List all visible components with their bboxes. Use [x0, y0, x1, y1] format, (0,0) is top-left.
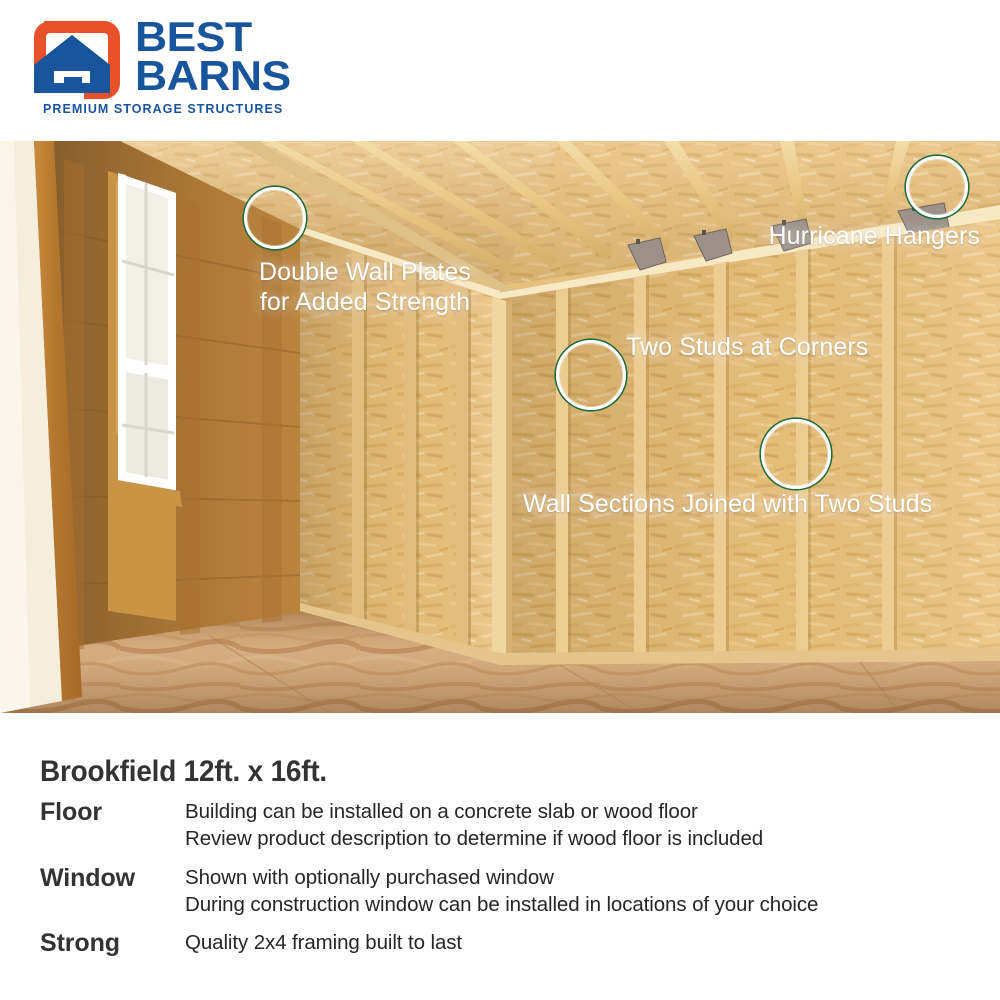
brand-tagline: PREMIUM STORAGE STRUCTURES — [43, 102, 283, 116]
annotation-label-two-studs-at-corners: Two Studs at Corners — [626, 333, 966, 363]
page-header: BEST BARNS PREMIUM STORAGE STRUCTURES — [0, 0, 1000, 141]
brand-line-1: BEST — [135, 17, 292, 56]
annotation-label-wall-sections-joined: Wall Sections Joined with Two Studs — [523, 490, 943, 520]
brand-wordmark: BEST BARNS PREMIUM STORAGE STRUCTURES — [135, 17, 283, 116]
spec-list: Floor Building can be installed on a con… — [40, 796, 990, 968]
annotation-label-double-wall-plates: Double Wall Plates for Added Strength — [250, 258, 480, 317]
spec-line: Review product description to determine … — [185, 825, 990, 852]
spec-values-floor: Building can be installed on a concrete … — [185, 796, 990, 853]
spec-line: Quality 2x4 framing built to last — [185, 929, 990, 956]
spec-label-strong: Strong — [40, 927, 185, 959]
shed-interior-photo: Double Wall Plates for Added Strength Hu… — [0, 141, 1000, 713]
spec-line: During construction window can be instal… — [185, 891, 990, 918]
spec-label-window: Window — [40, 862, 185, 894]
annotation-label-hurricane-hangers: Hurricane Hangers — [560, 222, 980, 252]
product-title: Brookfield 12ft. x 16ft. — [40, 755, 327, 789]
spec-values-window: Shown with optionally purchased window D… — [185, 862, 990, 919]
spec-line: Building can be installed on a concrete … — [185, 798, 990, 825]
spec-row-window: Window Shown with optionally purchased w… — [40, 862, 990, 919]
spec-line: Shown with optionally purchased window — [185, 864, 990, 891]
brand-line-2: BARNS — [135, 56, 292, 95]
spec-values-strong: Quality 2x4 framing built to last — [185, 927, 990, 956]
brand-logo[interactable]: BEST BARNS PREMIUM STORAGE STRUCTURES — [28, 21, 283, 120]
spec-section: Brookfield 12ft. x 16ft. Floor Building … — [0, 713, 1000, 1000]
spec-label-floor: Floor — [40, 796, 185, 828]
house-in-rounded-square-icon — [28, 21, 120, 99]
spec-row-strong: Strong Quality 2x4 framing built to last — [40, 927, 990, 959]
spec-row-floor: Floor Building can be installed on a con… — [40, 796, 990, 853]
